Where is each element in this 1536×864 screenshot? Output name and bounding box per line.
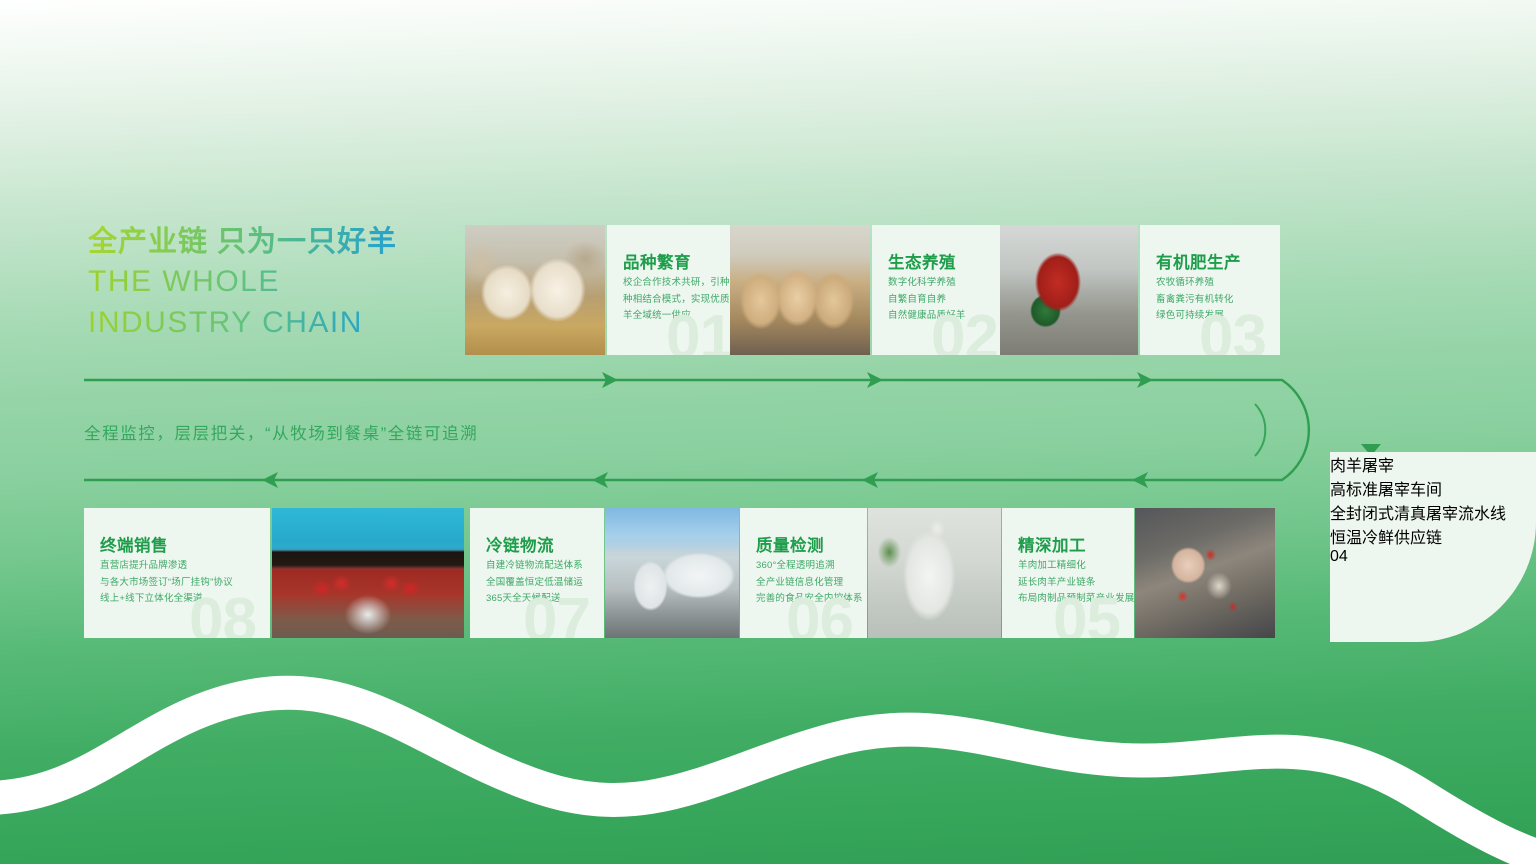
track-arrow-bottom-group	[262, 472, 1148, 488]
processed-product-photo	[1135, 508, 1275, 638]
step-title: 品种繁育	[623, 249, 691, 273]
arrow-left-icon	[262, 472, 278, 488]
sheep-lambs-photo	[465, 225, 605, 355]
step-title: 生态养殖	[888, 249, 956, 273]
step-number: 08	[189, 590, 256, 638]
step-number: 07	[523, 590, 590, 638]
slaughter-line-photo	[1255, 220, 1513, 452]
arrow-left-icon	[1132, 472, 1148, 488]
step-card-07[interactable]: 冷链物流 自建冷链物流配送体系全国覆盖恒定低温储运365天全天候配送 07	[470, 508, 604, 638]
arrow-left-icon	[592, 472, 608, 488]
fertilizer-machinery-photo	[1000, 225, 1138, 355]
step-title: 质量检测	[756, 532, 824, 556]
step-title: 肉羊屠宰	[1330, 452, 1536, 476]
step-card-08[interactable]: 终端销售 直营店提升品牌渗透与各大市场签订“场厂挂钩”协议线上+线下立体化全渠道…	[84, 508, 270, 638]
sheep-pen-photo	[730, 225, 870, 355]
step-title: 终端销售	[100, 532, 168, 556]
infographic-canvas: 全产业链 只为一只好羊 THE WHOLE INDUSTRY CHAIN 全程监…	[0, 0, 1536, 864]
step-number: 05	[1053, 590, 1120, 638]
headline-english-line2: INDUSTRY CHAIN	[88, 305, 468, 342]
step-title: 精深加工	[1018, 532, 1086, 556]
step-title: 冷链物流	[486, 532, 554, 556]
step-card-02[interactable]: 生态养殖 数字化科学养殖自繁自育自养自然健康品质好羊 02	[872, 225, 1012, 355]
step-number: 04	[1330, 548, 1536, 566]
step-card-06[interactable]: 质量检测 360°全程透明追溯全产业链信息化管理完善的食品安全内控体系 06	[740, 508, 867, 638]
step-card-04[interactable]: 肉羊屠宰 高标准屠宰车间全封闭式清真屠宰流水线恒温冷鲜供应链 04	[1330, 452, 1536, 642]
retail-store-photo	[272, 508, 464, 638]
cold-chain-truck-photo	[605, 508, 739, 638]
step-number: 02	[931, 307, 998, 355]
lab-inspection-photo	[868, 508, 1001, 638]
step-number: 01	[666, 307, 733, 355]
track-arrow-top-group	[602, 372, 1153, 388]
step-card-05[interactable]: 精深加工 羊肉加工精细化延长肉羊产业链条布局肉制品预制菜产业发展 05	[1002, 508, 1134, 638]
arrow-left-icon	[862, 472, 878, 488]
page-title-block: 全产业链 只为一只好羊 THE WHOLE INDUSTRY CHAIN	[88, 224, 468, 341]
step-desc: 高标准屠宰车间全封闭式清真屠宰流水线恒温冷鲜供应链	[1330, 476, 1506, 548]
wave-ribbon-decoration	[0, 604, 1536, 864]
arrow-right-icon	[602, 372, 618, 388]
headline-english-line1: THE WHOLE	[88, 264, 468, 301]
step-card-01[interactable]: 品种繁育 校企合作技术共研，引种育种相结合模式，实现优质羔羊全域统一供应 01	[607, 225, 747, 355]
step-number: 06	[786, 590, 853, 638]
tagline: 全程监控，层层把关，“从牧场到餐桌”全链可追溯	[84, 420, 478, 444]
step-title: 有机肥生产	[1156, 249, 1241, 273]
arrow-right-icon	[867, 372, 883, 388]
headline-chinese: 全产业链 只为一只好羊	[88, 224, 468, 260]
arrow-right-icon	[1137, 372, 1153, 388]
